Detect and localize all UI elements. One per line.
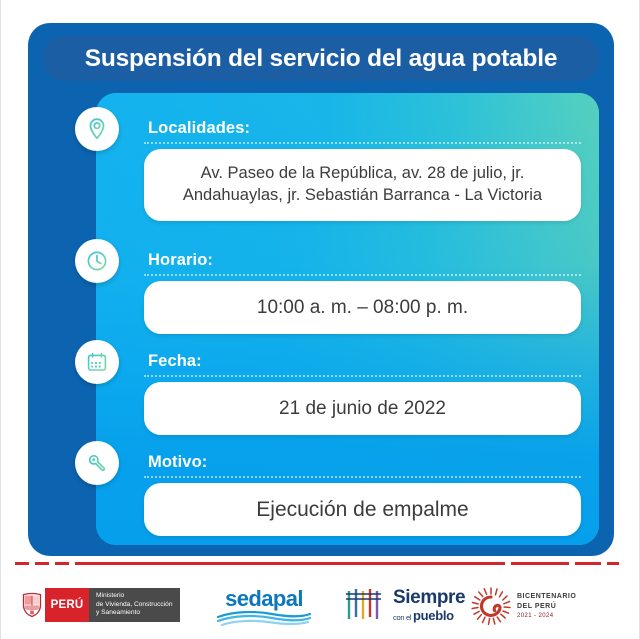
bicentenario-line3: 2021 - 2024 [517,612,576,621]
row-label-motivo: Motivo: [148,453,207,472]
notice-card: Suspensión del servicio del agua potable… [28,23,614,556]
notice-rows: Localidades: Av. Paseo de la República, … [96,93,599,545]
notice-row-localidades: Localidades: Av. Paseo de la República, … [96,119,599,239]
location-pin-icon [86,117,108,141]
notice-row-motivo: Motivo: Ejecución de empalme [96,453,599,545]
row-value-box-fecha: 21 de junio de 2022 [144,382,581,435]
row-separator [144,375,581,379]
notice-row-horario: Horario: 10:00 a. m. – 08:00 p. m. [96,251,599,355]
notice-title-banner: Suspensión del servicio del agua potable [43,36,599,81]
row-value-box-motivo: Ejecución de empalme [144,483,581,536]
row-label-fecha: Fecha: [148,352,202,371]
peru-coat-of-arms-icon [19,588,45,622]
row-separator [144,476,581,480]
row-label-localidades: Localidades: [148,119,250,138]
ministerio-line1: Ministerio [96,592,173,601]
row-separator [144,142,581,146]
logo-siempre-con-el-pueblo: Siempre con el pueblo [345,586,465,624]
row-value-localidades: Av. Paseo de la República, av. 28 de jul… [144,163,581,207]
siempre-wordmark: Siempre con el pueblo [393,588,465,622]
ministerio-line3: y Saneamiento [96,609,173,618]
siempre-bars-icon [345,587,387,623]
sedapal-wordmark: sedapal [214,588,314,610]
clock-icon-badge [75,239,119,283]
clock-icon [86,250,108,272]
wrench-icon-badge [75,441,119,485]
logo-sedapal: sedapal [214,588,314,632]
row-value-horario: 10:00 a. m. – 08:00 p. m. [239,295,486,320]
ministerio-line2: de Vivienda, Construcción [96,601,173,610]
footer-divider [15,562,627,565]
footer-logos: PERÚ Ministerio de Vivienda, Construcció… [1,576,640,638]
ministerio-name: Ministerio de Vivienda, Construcción y S… [89,588,180,622]
bicentenario-line2: DEL PERÚ [517,602,576,612]
logo-bicentenario: BICENTENARIO DEL PERÚ 2021 - 2024 [471,586,576,626]
row-value-box-localidades: Av. Paseo de la República, av. 28 de jul… [144,149,581,221]
peru-label: PERÚ [45,588,89,622]
notice-panel: Localidades: Av. Paseo de la República, … [96,93,599,545]
row-value-fecha: 21 de junio de 2022 [261,396,464,421]
footer: PERÚ Ministerio de Vivienda, Construcció… [1,562,640,639]
bicentenario-line1: BICENTENARIO [517,592,576,602]
siempre-line2-small: con el [393,613,413,622]
siempre-line2: con el pueblo [393,609,465,622]
row-value-box-horario: 10:00 a. m. – 08:00 p. m. [144,281,581,334]
siempre-line1: Siempre [393,588,465,607]
location-pin-icon-badge [75,107,119,151]
bicentenario-sun-icon [471,586,511,626]
bicentenario-wordmark: BICENTENARIO DEL PERÚ 2021 - 2024 [517,592,576,621]
notice-row-fecha: Fecha: 21 de junio de 2022 [96,352,599,456]
logo-ministerio-vivienda: PERÚ Ministerio de Vivienda, Construcció… [19,588,180,622]
row-separator [144,274,581,278]
calendar-icon-badge [75,340,119,384]
row-label-horario: Horario: [148,251,213,270]
calendar-icon [86,351,108,373]
siempre-line2-bold: pueblo [413,608,454,623]
sedapal-waves-icon [216,611,312,627]
page-title: Suspensión del servicio del agua potable [85,45,558,73]
poster-page: Suspensión del servicio del agua potable… [0,0,640,639]
wrench-icon [86,452,109,475]
row-value-motivo: Ejecución de empalme [238,496,486,524]
